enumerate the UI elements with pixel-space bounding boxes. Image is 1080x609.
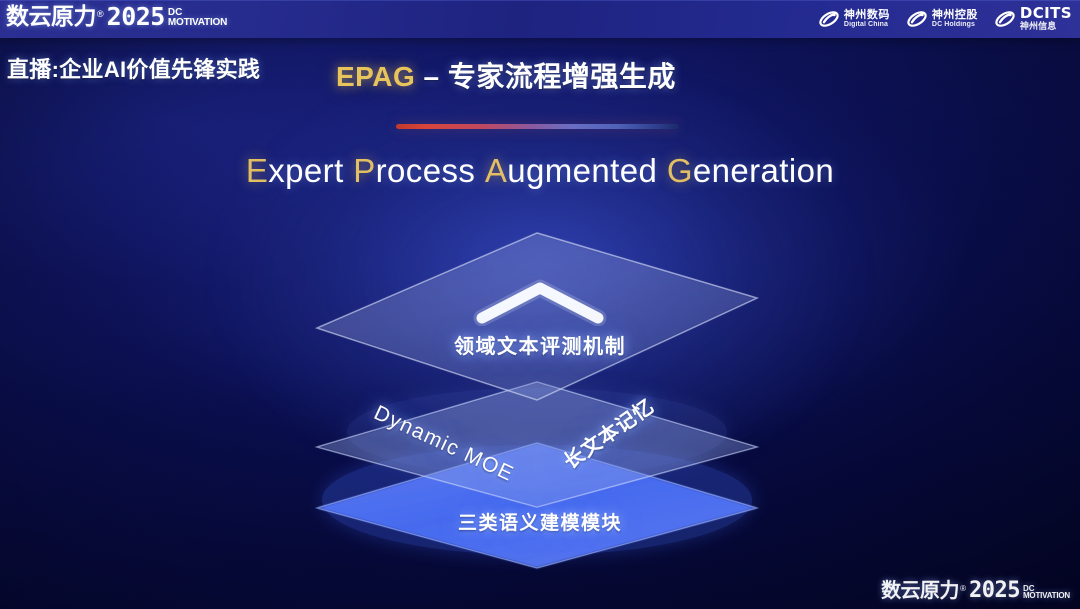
subtitle-space-2 [475, 152, 485, 189]
subtitle-cap-a: A [485, 152, 507, 189]
subtitle-space-1 [344, 152, 354, 189]
brand-dc-motivation: DC MOTIVATION [168, 8, 227, 27]
logo-label-cn: 神州信息 [1020, 22, 1072, 31]
subtitle-rest-augmented: ugmented [507, 152, 657, 189]
brand-name-cn: 数云原力 [6, 5, 96, 28]
spiral-swoosh-icon [818, 8, 840, 30]
brand-motivation-text: MOTIVATION [168, 18, 227, 28]
logo-label-en: DC Holdings [932, 21, 978, 28]
logo-label-cn: 神州数码 [844, 10, 890, 22]
logo-digital-china: 神州数码 Digital China [818, 8, 890, 30]
spiral-swoosh-icon [906, 8, 928, 30]
live-broadcast-title: 直播:企业AI价值先锋实践 [7, 52, 260, 84]
brand-year: 2025 [107, 4, 165, 29]
logo-dc-holdings: 神州控股 DC Holdings [906, 8, 978, 30]
subtitle-space-3 [657, 152, 667, 189]
slide-canvas: 数云原力 ® 2025 DC MOTIVATION 神州数码 [0, 0, 1080, 609]
subtitle-rest-process: rocess [376, 152, 476, 189]
watermark-registered-mark: ® [960, 585, 966, 593]
subtitle-rest-expert: xpert [268, 152, 343, 189]
subtitle-cap-e: E [246, 152, 268, 189]
footer-watermark-logo: 数云原力 ® 2025 DC MOTIVATION [881, 579, 1070, 601]
subtitle-rest-generation: eneration [693, 152, 834, 189]
logo-dc-holdings-text: 神州控股 DC Holdings [932, 10, 978, 29]
title-separator: – [415, 61, 448, 92]
title-chinese: 专家流程增强生成 [448, 61, 676, 92]
logo-label-en: Digital China [844, 21, 890, 28]
header-bar: 数云原力 ® 2025 DC MOTIVATION 神州数码 [0, 0, 1080, 38]
watermark-dc-motivation: DC MOTIVATION [1023, 585, 1070, 600]
diagram-layer-top [317, 233, 757, 400]
logo-dcits-text: DCITS 神州信息 [1020, 6, 1072, 31]
title-acronym: EPAG [336, 61, 415, 92]
partner-logo-group: 神州数码 Digital China 神州控股 DC Holdings [818, 0, 1072, 38]
subtitle-cap-p: P [353, 152, 375, 189]
page-title: EPAG – 专家流程增强生成 [336, 55, 676, 95]
gradient-divider [396, 124, 679, 129]
watermark-name-cn: 数云原力 [881, 581, 959, 601]
header-brand-logo: 数云原力 ® 2025 DC MOTIVATION [6, 3, 227, 28]
logo-label-en: DCITS [1020, 6, 1072, 22]
subtitle-cap-g: G [667, 152, 693, 189]
logo-digital-china-text: 神州数码 Digital China [844, 10, 890, 29]
logo-label-cn: 神州控股 [932, 10, 978, 22]
logo-dcits: DCITS 神州信息 [994, 6, 1072, 31]
brand-registered-mark: ® [97, 10, 104, 19]
page-subtitle: Expert Process Augmented Generation [0, 152, 1080, 190]
watermark-motivation-text: MOTIVATION [1023, 592, 1070, 600]
watermark-year: 2025 [969, 580, 1020, 602]
spiral-swoosh-icon [994, 8, 1016, 30]
